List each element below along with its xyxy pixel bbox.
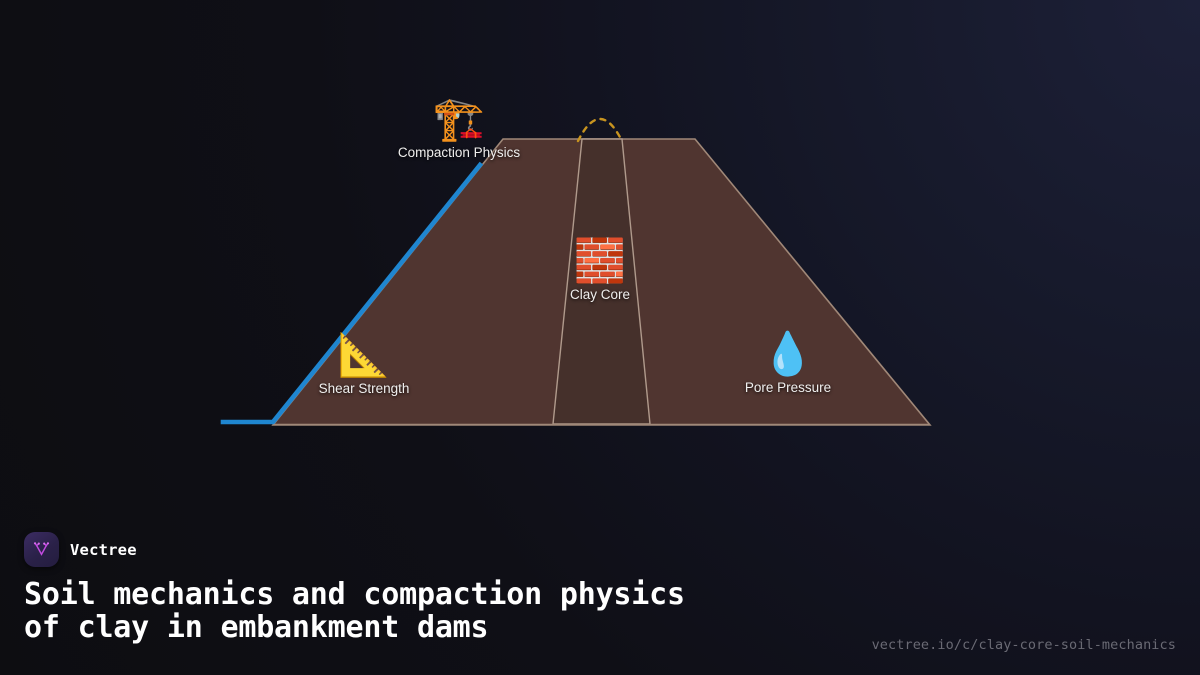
brand[interactable]: Vectree xyxy=(24,532,137,567)
node-compaction-physics[interactable]: 🏗️ Compaction Physics xyxy=(364,96,554,160)
node-label-shear-strength: Shear Strength xyxy=(269,381,459,396)
node-pore-pressure[interactable]: 💧 Pore Pressure xyxy=(693,331,883,395)
embankment-dam-diagram: 🏗️ Compaction Physics 🧱 Clay Core 📐 Shea… xyxy=(0,0,1200,520)
source-url: vectree.io/c/clay-core-soil-mechanics xyxy=(872,637,1176,653)
seepage-arc xyxy=(578,119,622,141)
footer: Vectree Soil mechanics and compaction ph… xyxy=(0,520,1200,675)
triangular-ruler-icon: 📐 xyxy=(269,332,459,378)
brand-name: Vectree xyxy=(70,541,137,559)
node-label-compaction-physics: Compaction Physics xyxy=(364,145,554,160)
brick-wall-icon: 🧱 xyxy=(505,238,695,284)
slide-canvas: 🏗️ Compaction Physics 🧱 Clay Core 📐 Shea… xyxy=(0,0,1200,675)
node-shear-strength[interactable]: 📐 Shear Strength xyxy=(269,332,459,396)
water-droplet-icon: 💧 xyxy=(693,331,883,377)
node-clay-core[interactable]: 🧱 Clay Core xyxy=(505,238,695,302)
construction-crane-icon: 🏗️ xyxy=(364,96,554,142)
vectree-logo-icon xyxy=(24,532,59,567)
page-title: Soil mechanics and compaction physics of… xyxy=(24,578,685,644)
node-label-pore-pressure: Pore Pressure xyxy=(693,380,883,395)
node-label-clay-core: Clay Core xyxy=(505,287,695,302)
